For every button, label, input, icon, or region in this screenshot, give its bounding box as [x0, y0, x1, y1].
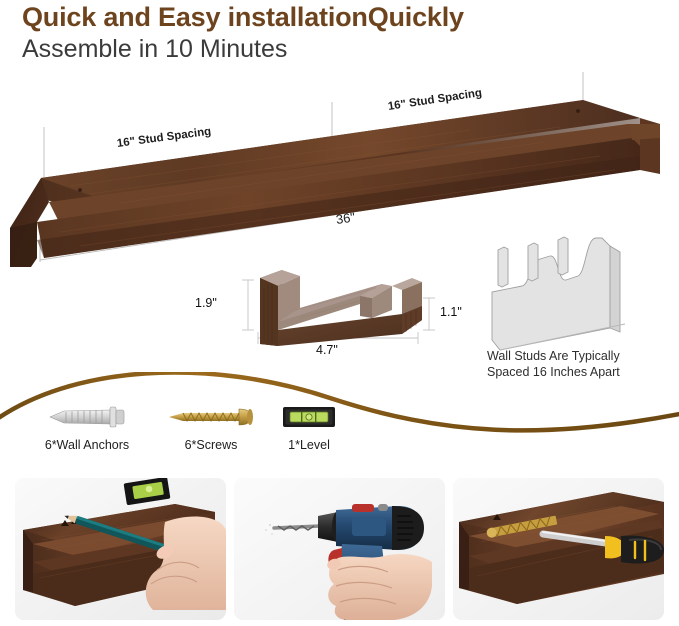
- hardware-item-wall-anchors: 6*Wall Anchors: [26, 402, 148, 460]
- wall-studs-caption-line-1: Wall Studs Are Typically: [487, 348, 667, 364]
- cross-section-height-label: 1.9": [195, 296, 217, 310]
- screw-icon: [150, 402, 272, 432]
- photo-mark-with-pencil: [15, 478, 226, 620]
- photo-drive-screw: [453, 478, 664, 620]
- shelf-profile: [260, 270, 422, 346]
- screw-hole: [78, 188, 82, 192]
- hardware-label-wall-anchors: 6*Wall Anchors: [26, 438, 148, 452]
- product-infographic-page: Quick and Easy installationQuickly Assem…: [0, 0, 679, 626]
- wall-anchor-icon: [26, 402, 148, 432]
- cross-section-width-label: 4.7": [316, 343, 338, 357]
- bubble-level-icon: [272, 402, 346, 432]
- hardware-item-screws: 6*Screws: [150, 402, 272, 460]
- installation-photos: [0, 478, 679, 626]
- hardware-label-level: 1*Level: [272, 438, 346, 452]
- dimension-label-overall-length: 36": [335, 209, 356, 227]
- photo-drill-hole: [234, 478, 445, 620]
- hardware-item-level: 1*Level: [272, 402, 346, 460]
- page-title: Quick and Easy installationQuickly: [22, 2, 464, 33]
- screw-hole: [576, 109, 580, 113]
- cross-section-diagram: 1.9" 1.1" 4.7": [196, 248, 446, 368]
- cross-section-lip-height-label: 1.1": [440, 305, 462, 319]
- hand-in-photo: [326, 554, 432, 620]
- page-subtitle: Assemble in 10 Minutes: [22, 35, 287, 64]
- hardware-label-screws: 6*Screws: [150, 438, 272, 452]
